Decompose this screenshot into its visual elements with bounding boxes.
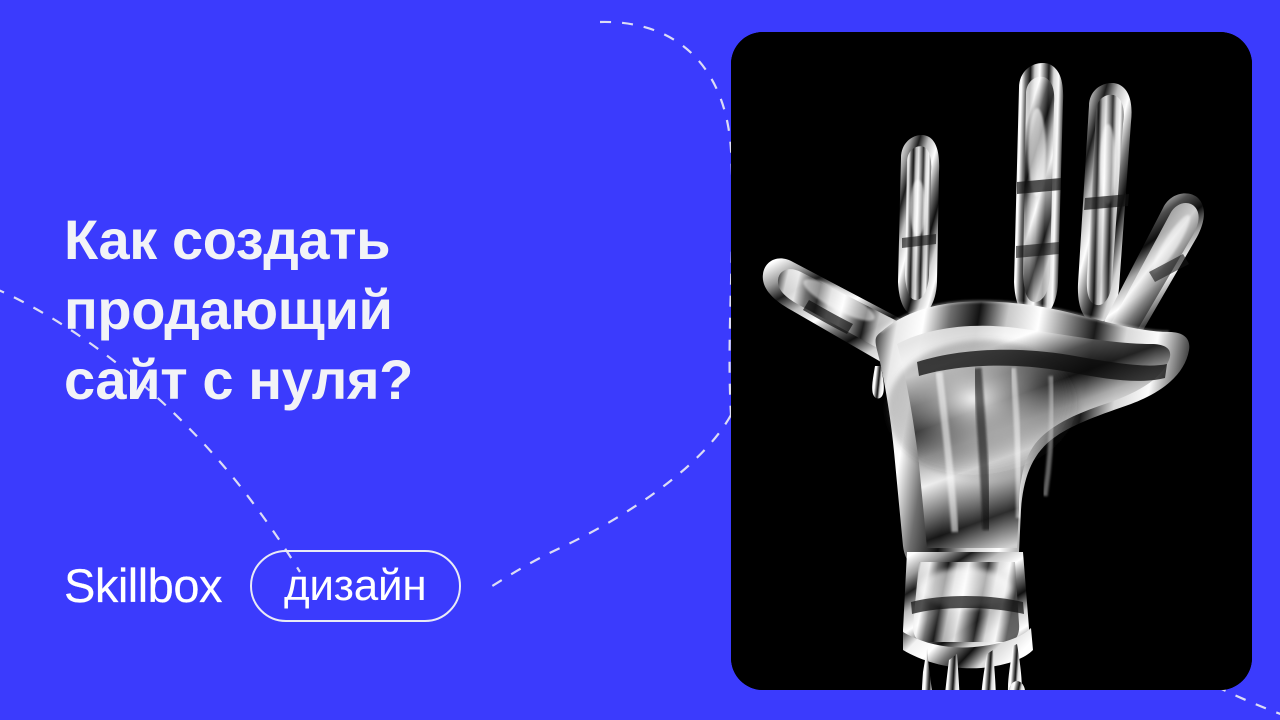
headline-line-2: продающий	[64, 275, 413, 345]
skillbox-logo[interactable]: Skillbox	[64, 560, 222, 612]
category-badge[interactable]: дизайн	[250, 550, 461, 622]
brand-row: Skillbox дизайн	[64, 548, 461, 624]
promo-slide: Как создать продающий сайт с нуля? Skill…	[0, 0, 1280, 720]
page-title: Как создать продающий сайт с нуля?	[64, 205, 413, 415]
category-badge-label: дизайн	[284, 562, 427, 610]
text-column: Как создать продающий сайт с нуля? Skill…	[64, 0, 684, 720]
headline-line-1: Как создать	[64, 205, 413, 275]
chrome-hand-illustration	[731, 32, 1252, 690]
artwork-card	[731, 32, 1252, 690]
headline-line-3: сайт с нуля?	[64, 345, 413, 415]
